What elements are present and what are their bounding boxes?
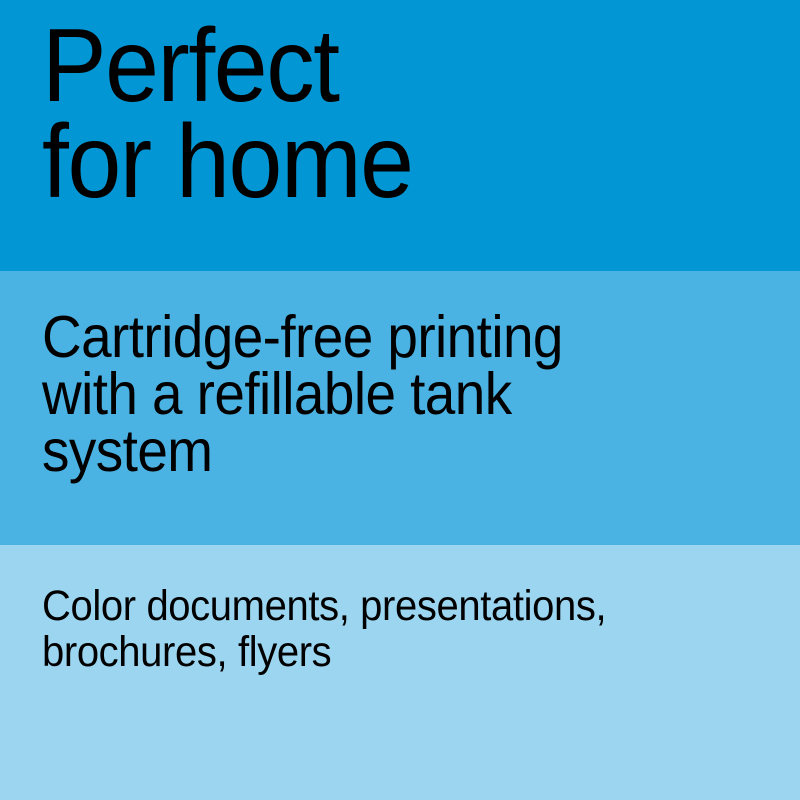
headline-band: Perfect for home [0,0,800,271]
product-feature-infographic: Perfect for home Cartridge-free printing… [0,0,800,800]
subhead-text: Cartridge-free printing with a refillabl… [42,271,710,480]
detail-text: Color documents, presentations, brochure… [42,545,728,675]
detail-band: Color documents, presentations, brochure… [0,545,800,800]
headline-text: Perfect for home [42,0,710,210]
subhead-band: Cartridge-free printing with a refillabl… [0,271,800,545]
